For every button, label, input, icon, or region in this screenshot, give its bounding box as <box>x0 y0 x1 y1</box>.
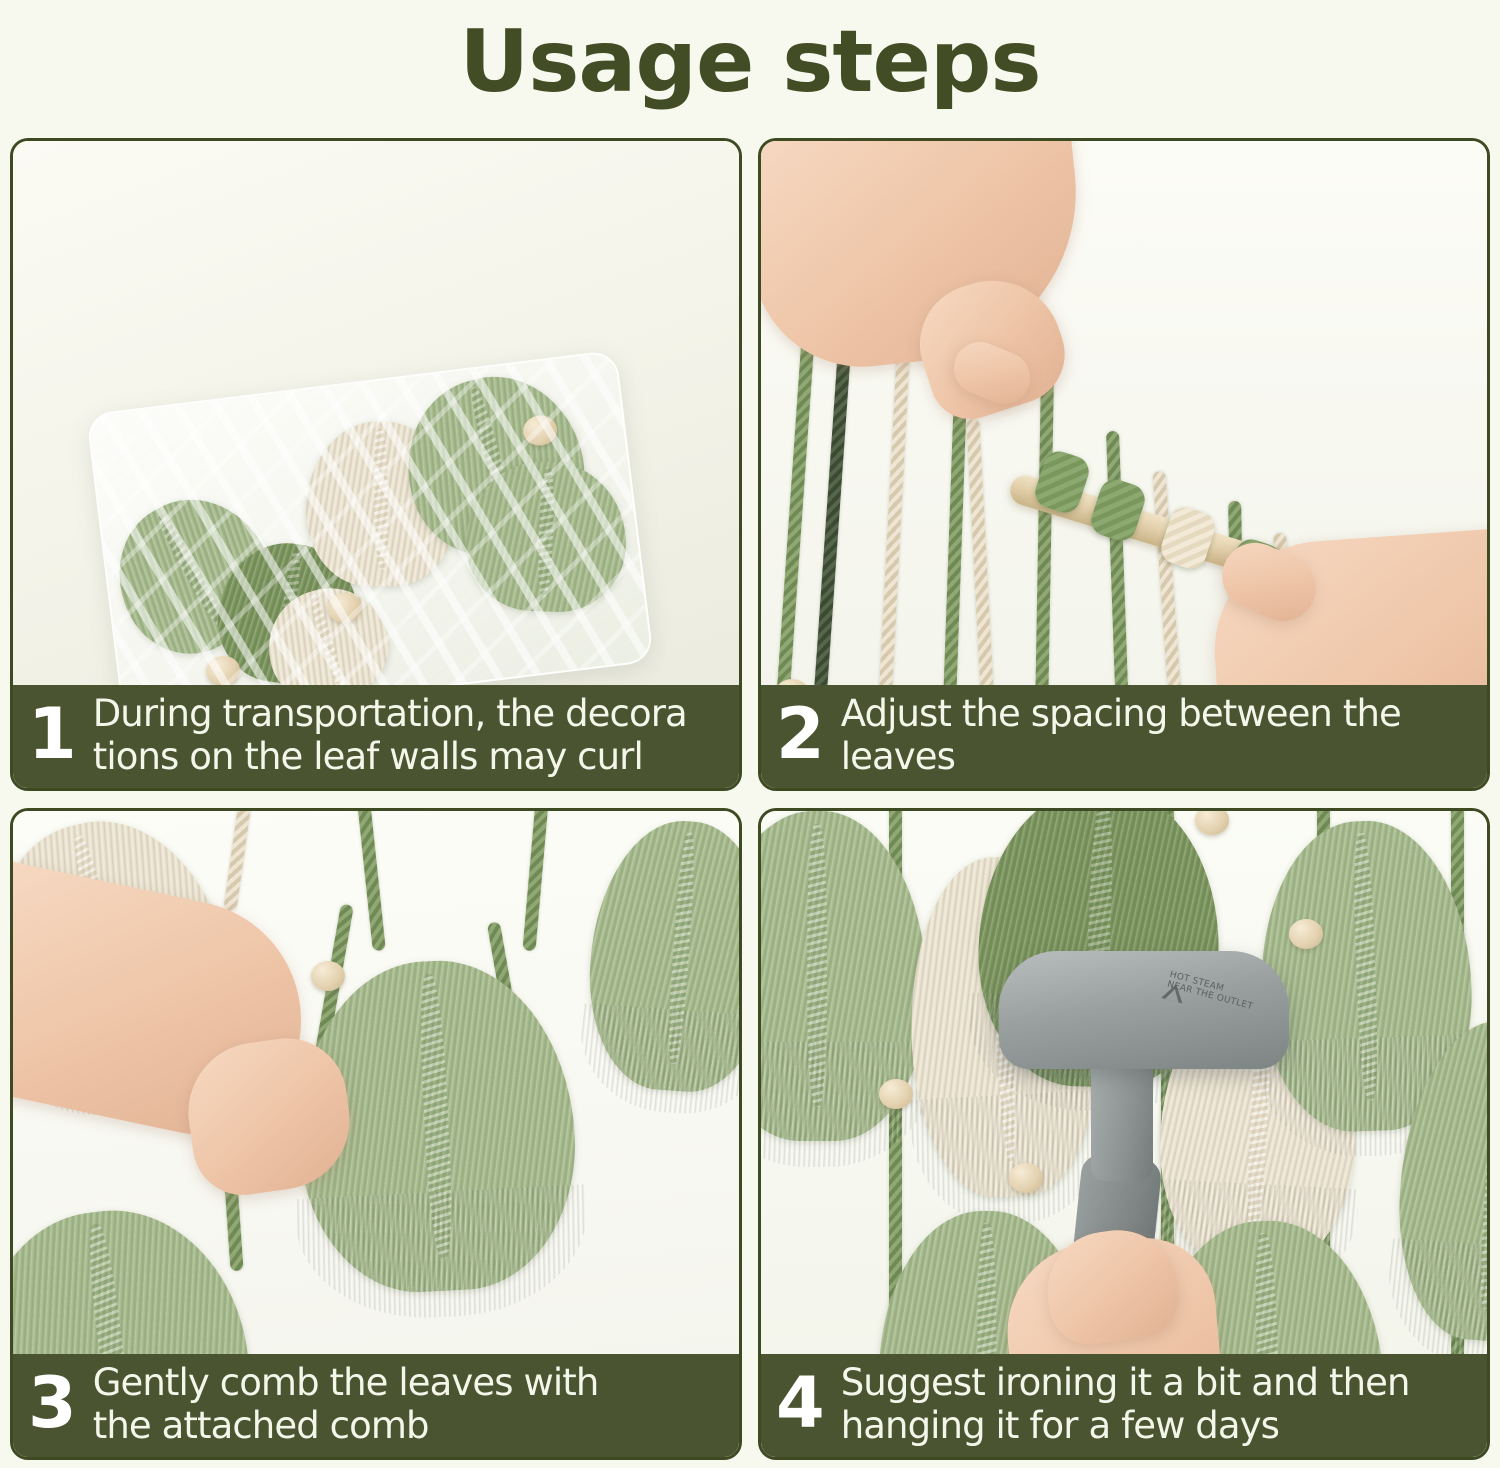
step-2-number: 2 <box>776 699 823 769</box>
usage-steps-grid: 1 During transportation, the decora tion… <box>10 138 1490 1460</box>
step-1-caption-text: During transportation, the decora tions … <box>93 692 687 778</box>
step-2-caption-bar: 2 Adjust the spacing between the leaves <box>760 685 1488 789</box>
step-3-caption-text: Gently comb the leaves with the attached… <box>93 1361 599 1447</box>
step-2-caption-text: Adjust the spacing between the leaves <box>841 692 1401 778</box>
step-3-number: 3 <box>28 1368 75 1438</box>
step-4-caption-text: Suggest ironing it a bit and then hangin… <box>841 1361 1410 1447</box>
plastic-packaging-bag <box>86 350 654 727</box>
step-panel-4: HOT STEAM NEAR THE OUTLET 4 Suggest iron… <box>758 808 1490 1461</box>
step-3-caption-bar: 3 Gently comb the leaves with the attach… <box>12 1354 740 1458</box>
wooden-bead <box>311 961 345 991</box>
step-panel-1: 1 During transportation, the decora tion… <box>10 138 742 791</box>
step-panel-2: 2 Adjust the spacing between the leaves <box>758 138 1490 791</box>
wooden-bead <box>879 1079 913 1109</box>
wooden-bead <box>1009 1163 1043 1193</box>
step-4-number: 4 <box>776 1368 823 1438</box>
page-title: Usage steps <box>0 0 1500 118</box>
step-panel-3: 3 Gently comb the leaves with the attach… <box>10 808 742 1461</box>
garment-steamer-head: HOT STEAM NEAR THE OUTLET <box>999 951 1289 1069</box>
step-1-number: 1 <box>28 699 75 769</box>
steamer-warning-label: HOT STEAM NEAR THE OUTLET <box>1166 969 1257 1011</box>
step-1-caption-bar: 1 During transportation, the decora tion… <box>12 685 740 789</box>
wooden-bead <box>1289 919 1323 949</box>
step-4-caption-bar: 4 Suggest ironing it a bit and then hang… <box>760 1354 1488 1458</box>
steamer-neck <box>1091 1051 1153 1181</box>
